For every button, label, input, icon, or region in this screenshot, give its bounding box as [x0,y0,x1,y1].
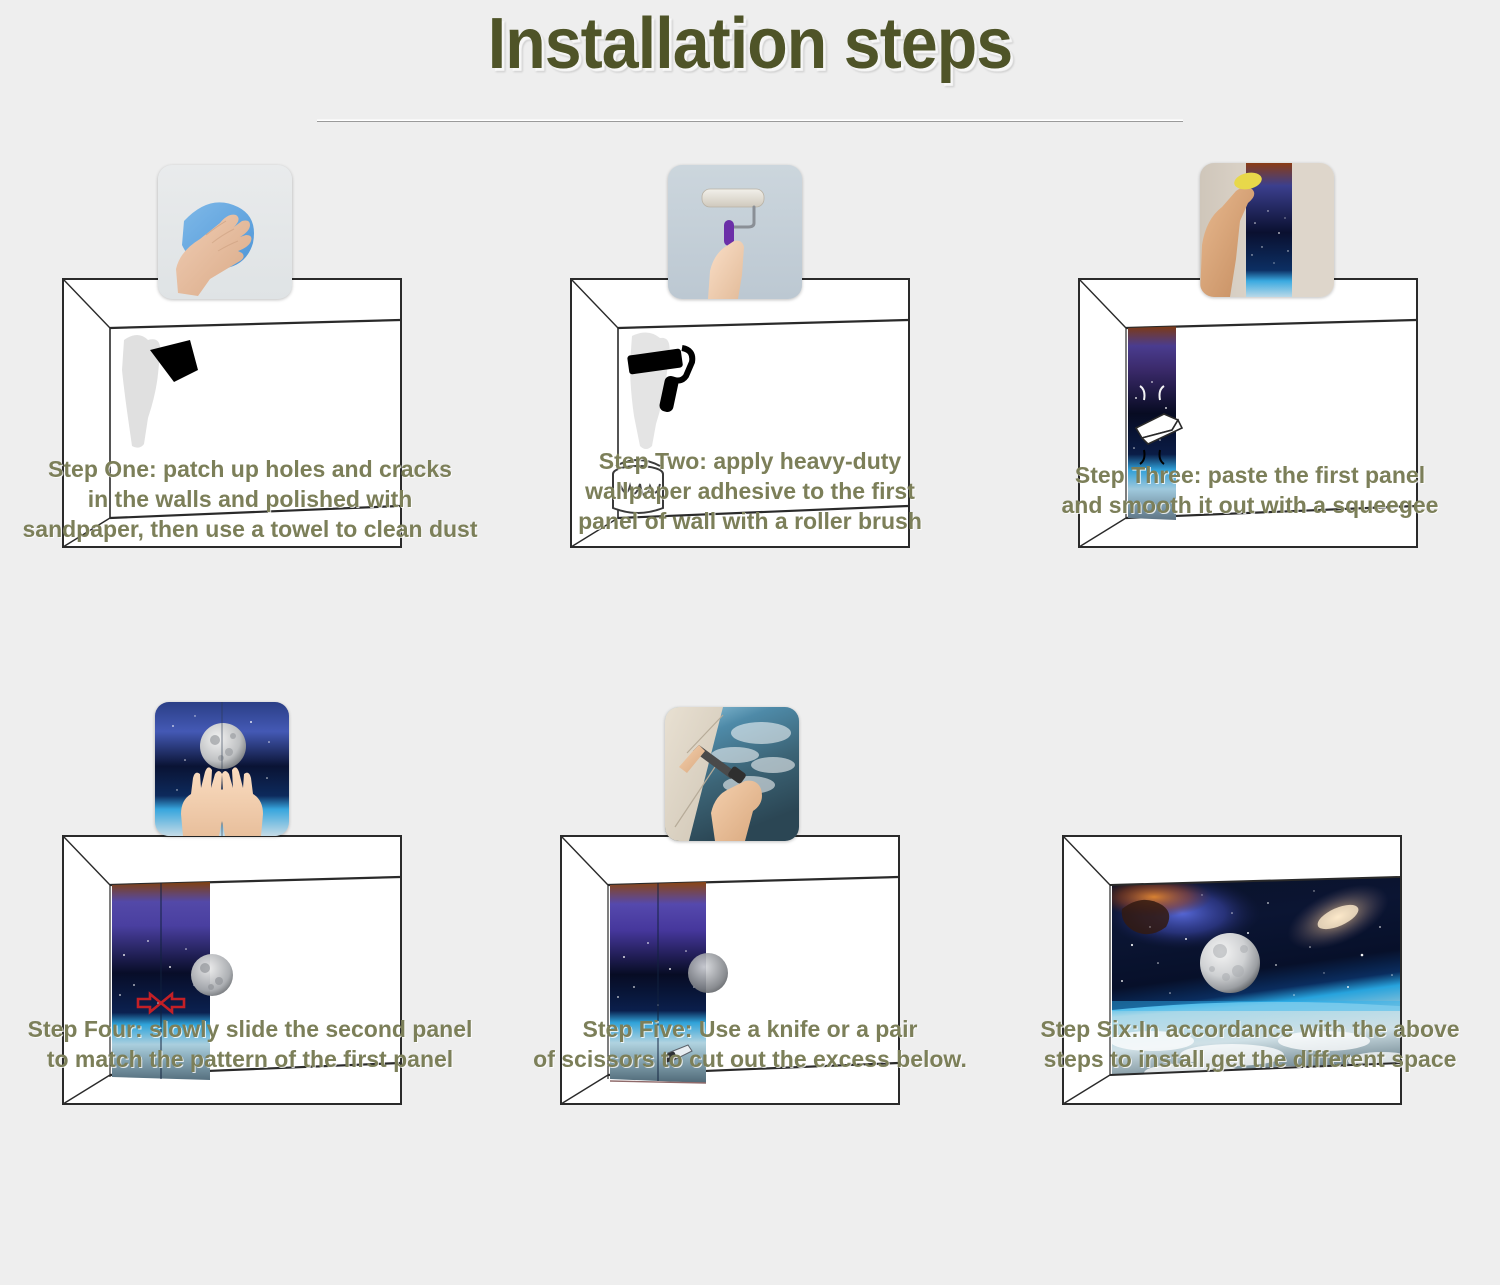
caption-line: and smooth it out with a squeegee [1000,491,1500,521]
step-card-three: Step Three: paste the first panel and sm… [1000,155,1500,720]
step-card-five: Step Five: Use a knife or a pair of scis… [500,720,1000,1285]
caption-line: Step Three: paste the first panel [1000,461,1500,491]
caption-line: Step Five: Use a knife or a pair [500,1015,1000,1045]
caption-line: Step Six:In accordance with the above [1000,1015,1500,1045]
page-title: Installation steps [60,0,1440,80]
step-card-six: Step Six:In accordance with the above st… [1000,720,1500,1285]
step-caption-two: Step Two: apply heavy-duty wallpaper adh… [500,447,1000,537]
caption-line: Step One: patch up holes and cracks [0,455,500,485]
paint-roller-photo [668,165,802,299]
caption-line: wallpaper adhesive to the first [500,477,1000,507]
installation-steps-grid: Step One: patch up holes and cracks in t… [0,155,1500,1285]
caption-line: steps to install,get the different space [1000,1045,1500,1075]
step-caption-three: Step Three: paste the first panel and sm… [1000,461,1500,521]
step-caption-six: Step Six:In accordance with the above st… [1000,1015,1500,1075]
caption-line: in the walls and polished with [0,485,500,515]
hand-with-blue-cloth-photo [158,165,292,299]
caption-line: Step Four: slowly slide the second panel [0,1015,500,1045]
caption-line: of scissors to cut out the excess below. [500,1045,1000,1075]
step-caption-four: Step Four: slowly slide the second panel… [0,1015,500,1075]
knife-cutting-wallpaper-photo [665,707,799,841]
hands-on-wallpaper-photo [155,702,289,836]
caption-line: sandpaper, then use a towel to clean dus… [0,515,500,545]
title-divider [317,120,1183,122]
caption-line: panel of wall with a roller brush [500,507,1000,537]
step-card-one: Step One: patch up holes and cracks in t… [0,155,500,720]
step-card-two: Step Two: apply heavy-duty wallpaper adh… [500,155,1000,720]
step-caption-five: Step Five: Use a knife or a pair of scis… [500,1015,1000,1075]
squeegee-on-wallpaper-photo [1200,163,1334,297]
step-card-four: Step Four: slowly slide the second panel… [0,720,500,1285]
caption-line: to match the pattern of the first panel [0,1045,500,1075]
step-caption-one: Step One: patch up holes and cracks in t… [0,455,500,545]
caption-line: Step Two: apply heavy-duty [500,447,1000,477]
